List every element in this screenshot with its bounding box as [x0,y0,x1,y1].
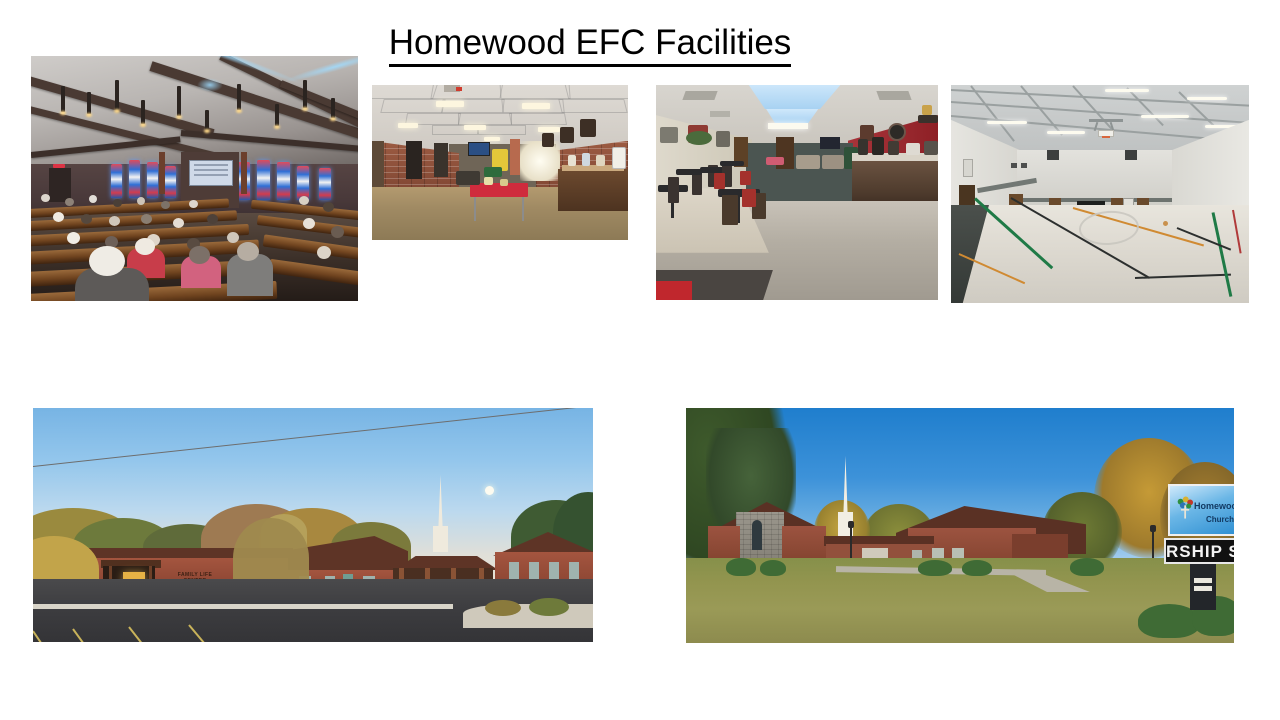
pendant-light [61,86,65,112]
stained-glass-window [129,160,140,198]
church-sign-title-line2: Church [1206,516,1234,524]
wall-decor [716,131,730,147]
bench [456,171,480,185]
congregant [89,246,125,276]
table-cloth [766,157,784,165]
basketball-hoop [1089,119,1123,137]
congregant [113,199,122,207]
foyer-door [434,143,448,177]
red-chair [714,173,725,189]
ceiling-vent [682,91,717,100]
wall-vent [963,159,973,177]
flc-scene [951,85,1249,303]
congregant [137,197,145,205]
congregant [67,232,80,244]
wall-speaker [1125,150,1137,160]
congregant [207,214,218,224]
strip-light [1105,89,1149,92]
foyer-scene [372,85,628,240]
ceiling-tile [372,85,439,99]
banner [159,152,165,194]
bistro-table [676,169,702,175]
fire-alarm [456,87,462,91]
congregant [173,218,184,228]
brochure [568,155,576,166]
supplies [906,143,920,155]
stained-glass-window [111,164,122,198]
photo-street-view[interactable]: Homewood Church RSHIP SE 60th Street Vie… [686,408,1234,643]
red-chair [742,189,756,207]
wall-clock [888,123,906,141]
pendant-light [87,92,91,114]
island-curb [463,604,593,628]
shelf-item [922,105,932,115]
stained-glass-window [147,162,158,198]
sanctuary-scene [31,56,358,301]
ceiling-light [768,123,808,129]
window-light [520,141,560,181]
photo-coffee-kiosk[interactable]: Coffee Kiosk / Fellowship Area [656,85,938,300]
bar-stool [668,177,679,203]
wall-frame [542,133,554,147]
foyer-monitor [468,142,490,156]
arched-window [752,520,762,550]
sign-address-plate [1194,586,1212,591]
pendant-light [275,104,279,126]
ceiling-tile [509,113,567,125]
page-title-text: Homewood EFC Facilities [389,23,792,67]
congregant [303,218,315,229]
street-view-scene: Homewood Church RSHIP SE [686,408,1234,643]
congregant [317,246,331,259]
ceiling-tile [458,113,512,125]
ceiling-tile [430,85,503,99]
table-item [500,179,508,186]
congregant [109,216,120,226]
basketball [1163,221,1168,226]
sign-address-plate [1194,578,1212,583]
strip-light [1141,115,1189,118]
ceiling-tile [564,85,628,99]
pendant-light [141,100,145,124]
congregant [237,242,259,261]
congregant [227,232,239,243]
congregant [189,246,210,264]
supplies [924,141,938,155]
foyer-door [406,141,422,179]
curb [33,604,453,609]
congregant [65,198,74,206]
congregant [141,214,152,224]
strip-light [1047,131,1085,134]
pendant-light [115,80,119,110]
wall-speaker [1011,163,1017,168]
congregant [135,238,155,255]
photo-sanctuary[interactable]: Sanctuary [31,56,358,301]
congregant [41,194,50,202]
congregant [89,195,97,203]
table-item [484,177,493,185]
stained-glass-window [277,162,290,200]
wall-decor [660,127,678,143]
moon [485,486,494,495]
bush [1070,558,1104,576]
congregant [323,202,334,212]
ceiling-vent [876,91,911,100]
island-planting [485,600,521,616]
lounge-sofa [796,155,820,169]
ceiling-tile [558,99,627,113]
foyer-door [372,141,384,187]
wall-tv [820,137,840,149]
wall-wreath [686,131,712,145]
display-counter [558,169,628,211]
church-sign-panel: Homewood Church [1168,484,1234,536]
pendant-light [177,86,181,116]
congregant [53,212,64,222]
ceiling-vent [710,111,730,117]
curtain [510,139,520,175]
dining-chair [722,195,738,225]
exit-sign [53,164,65,168]
exit-door [49,168,71,202]
wall-speaker [1021,163,1027,168]
ceiling-light [484,137,500,141]
congregant [189,200,198,208]
coffee-urn [858,139,868,155]
strip-light [987,121,1027,124]
lens-flare [197,78,223,92]
sign-marquee: RSHIP SE [1164,538,1234,564]
stained-glass-window [319,168,331,200]
congregant [81,214,92,224]
wall-frame [560,127,574,143]
bush [918,560,952,576]
foyer-table [470,183,528,197]
red-bin [656,281,692,300]
wall-frame [580,119,596,137]
pendant-light [237,84,241,110]
paper-towel-dispenser [612,147,626,169]
red-chair [740,171,751,185]
ceiling-light [538,127,560,132]
pendant-light [205,110,209,130]
ceiling-tile [499,85,570,99]
church-sign-title-line1: Homewood [1194,502,1234,511]
wall-speaker [1047,150,1059,160]
projection-screen [189,160,233,186]
island-planting [529,598,569,616]
bush [726,558,756,576]
ceiling-light [398,123,418,128]
stained-glass-window [297,166,309,200]
coffee-kiosk-scene [656,85,938,300]
ceiling-light [436,101,464,107]
bush [760,560,786,576]
bistro-table [720,161,744,166]
page-title: Homewood EFC Facilities [370,22,810,64]
congregant [299,196,309,205]
ceiling-light [464,125,486,130]
banner [241,152,247,194]
ceiling-light [522,103,550,109]
lounge-sofa [822,155,844,169]
pendant-light [331,98,335,118]
table-leg [522,197,524,221]
coffee-machine [872,137,884,155]
marquee-text: RSHIP SE [1166,542,1234,562]
slide-canvas: Homewood EFC Facilities [0,0,1280,720]
steeple-base [433,526,448,552]
photo-exterior-parking-lot[interactable]: FAMILY LIFE CENTER [33,408,593,642]
chair [484,167,502,177]
coffee-urn [888,141,899,155]
bush [962,560,992,576]
wall-shelf [918,115,938,123]
brochure [582,153,590,166]
table-leg [474,197,476,221]
tree-logo-icon [1174,496,1196,522]
congregant [331,226,344,238]
photo-family-life-center[interactable]: Family Life Center [951,85,1249,303]
strip-light [1187,97,1227,100]
exterior-scene: FAMILY LIFE CENTER [33,408,593,642]
brochure [596,155,605,166]
congregant [161,201,170,209]
stained-glass-window [257,160,270,200]
photo-foyer[interactable]: Foyer [372,85,628,240]
stained-glass-window [165,166,176,198]
